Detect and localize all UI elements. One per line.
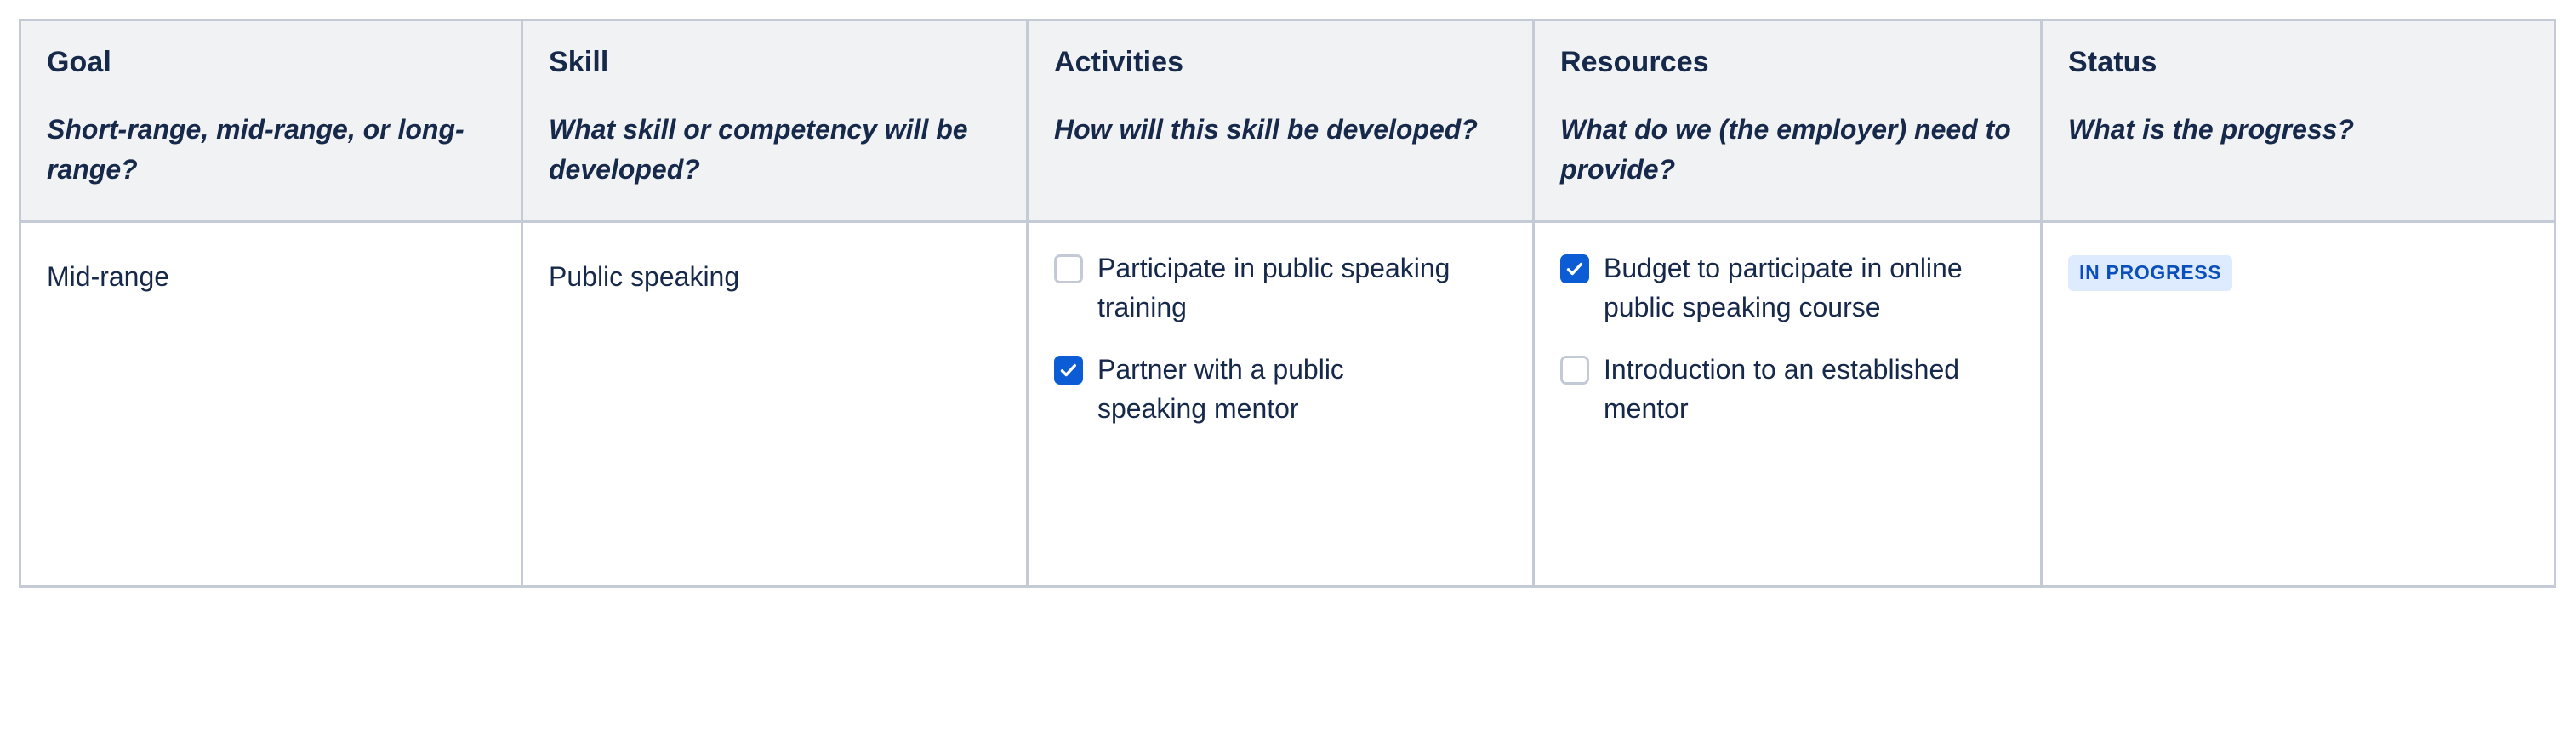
activity-label: Partner with a public speaking mentor <box>1097 350 1455 429</box>
resource-label: Budget to participate in online public s… <box>1604 248 1969 328</box>
column-header-status-description: What is the progress? <box>2068 110 2528 150</box>
list-item[interactable]: Partner with a public speaking mentor <box>1054 350 1507 429</box>
table-row: Mid-range Public speaking Participate in… <box>20 221 2556 587</box>
column-header-goal-description: Short-range, mid-range, or long-range? <box>47 110 495 191</box>
column-header-activities: Activities How will this skill be develo… <box>1028 20 1534 221</box>
column-header-skill-title: Skill <box>549 45 1000 79</box>
table-header-row: Goal Short-range, mid-range, or long-ran… <box>20 20 2556 221</box>
table-body: Mid-range Public speaking Participate in… <box>20 221 2556 587</box>
activity-label: Participate in public speaking training <box>1097 248 1455 328</box>
cell-goal: Mid-range <box>20 221 522 587</box>
column-header-resources: Resources What do we (the employer) need… <box>1534 20 2042 221</box>
status-badge: IN PROGRESS <box>2068 255 2232 291</box>
checkbox-checked-icon[interactable] <box>1054 356 1083 385</box>
activities-checklist: Participate in public speaking training … <box>1054 248 1507 429</box>
column-header-goal: Goal Short-range, mid-range, or long-ran… <box>20 20 522 221</box>
cell-status: IN PROGRESS <box>2042 221 2556 587</box>
cell-activities: Participate in public speaking training … <box>1028 221 1534 587</box>
checkbox-checked-icon[interactable] <box>1560 254 1589 283</box>
column-header-status-title: Status <box>2068 45 2528 79</box>
resources-checklist: Budget to participate in online public s… <box>1560 248 2015 429</box>
checkbox-unchecked-icon[interactable] <box>1560 356 1589 385</box>
resource-label: Introduction to an established mentor <box>1604 350 1969 429</box>
list-item[interactable]: Introduction to an established mentor <box>1560 350 2015 429</box>
list-item[interactable]: Budget to participate in online public s… <box>1560 248 2015 328</box>
page-root: Goal Short-range, mid-range, or long-ran… <box>0 0 2576 742</box>
development-plan-table: Goal Short-range, mid-range, or long-ran… <box>19 19 2556 588</box>
column-header-skill-description: What skill or competency will be develop… <box>549 110 1000 191</box>
checkbox-unchecked-icon[interactable] <box>1054 254 1083 283</box>
column-header-goal-title: Goal <box>47 45 495 79</box>
column-header-activities-description: How will this skill be developed? <box>1054 110 1507 150</box>
cell-skill: Public speaking <box>522 221 1028 587</box>
column-header-status: Status What is the progress? <box>2042 20 2556 221</box>
list-item[interactable]: Participate in public speaking training <box>1054 248 1507 328</box>
table-header: Goal Short-range, mid-range, or long-ran… <box>20 20 2556 221</box>
column-header-skill: Skill What skill or competency will be d… <box>522 20 1028 221</box>
column-header-activities-title: Activities <box>1054 45 1507 79</box>
goal-value: Mid-range <box>47 248 495 296</box>
column-header-resources-description: What do we (the employer) need to provid… <box>1560 110 2015 191</box>
column-header-resources-title: Resources <box>1560 45 2015 79</box>
skill-value: Public speaking <box>549 248 1000 296</box>
cell-resources: Budget to participate in online public s… <box>1534 221 2042 587</box>
